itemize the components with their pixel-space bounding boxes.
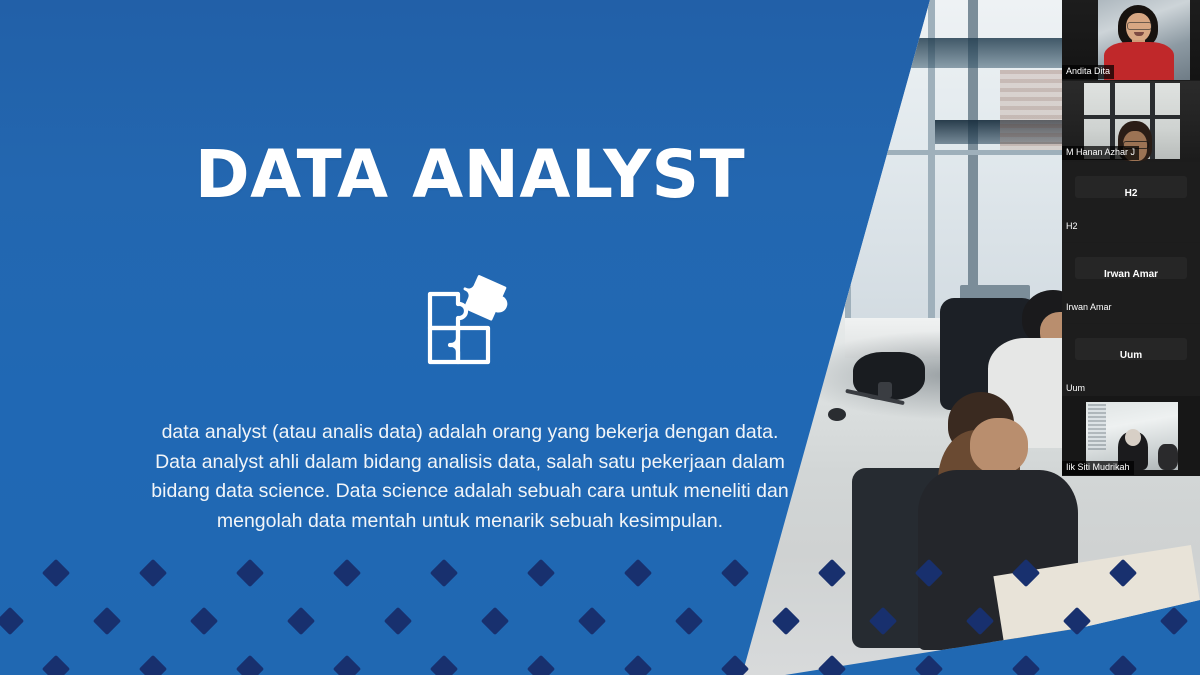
page-title: DATA ANALYST	[0, 142, 940, 208]
diamond-shape	[0, 607, 24, 635]
diamond-shape	[915, 655, 943, 675]
diamond-shape	[333, 655, 361, 675]
diamond-shape	[966, 607, 994, 635]
diamond-shape	[139, 559, 167, 587]
diamond-shape	[333, 559, 361, 587]
diamond-shape	[430, 559, 458, 587]
diamond-shape	[772, 607, 800, 635]
diamond-shape	[1012, 559, 1040, 587]
diamond-shape	[1012, 655, 1040, 675]
diamond-shape	[190, 607, 218, 635]
diamond-shape	[139, 655, 167, 675]
diamond-shape	[818, 655, 846, 675]
diamond-shape	[624, 559, 652, 587]
participant-tile-4[interactable]: Irwan Amar Irwan Amar	[1062, 243, 1200, 323]
participant-center-name-3: H2	[1062, 188, 1200, 199]
participant-tile-6[interactable]: Iik Siti Mudrikah	[1062, 396, 1200, 476]
diamond-pattern	[0, 555, 1200, 675]
diamond-shape	[818, 559, 846, 587]
participant-name-4: Irwan Amar	[1062, 301, 1116, 315]
diamond-shape	[915, 559, 943, 587]
puzzle-icon	[414, 268, 518, 368]
diamond-shape	[42, 559, 70, 587]
diamond-shape	[430, 655, 458, 675]
diamond-shape	[384, 607, 412, 635]
diamond-shape	[42, 655, 70, 675]
diamond-shape	[578, 607, 606, 635]
diamond-shape	[236, 559, 264, 587]
diamond-shape	[93, 607, 121, 635]
diamond-shape	[481, 607, 509, 635]
participant-tile-2[interactable]: M Hanan Azhar J	[1062, 81, 1200, 161]
diamond-shape	[287, 607, 315, 635]
participant-name-3: H2	[1062, 220, 1082, 234]
diamond-shape	[675, 607, 703, 635]
diamond-shape	[1109, 655, 1137, 675]
screen-share-slide: DATA ANALYST data analyst (atau analis d…	[0, 0, 1200, 675]
participant-name-5: Uum	[1062, 382, 1089, 396]
diamond-shape	[1063, 607, 1091, 635]
diamond-shape	[527, 655, 555, 675]
diamond-shape	[1160, 607, 1188, 635]
participant-video-3	[1062, 162, 1200, 242]
diamond-shape	[1109, 559, 1137, 587]
video-participant-panel[interactable]: Andita Dita M Hanan Azhar J H2 H2 Irwa	[1062, 0, 1200, 476]
participant-name-6: Iik Siti Mudrikah	[1062, 461, 1134, 475]
diamond-shape	[721, 655, 749, 675]
participant-center-name-4: Irwan Amar	[1062, 269, 1200, 280]
participant-name-1: Andita Dita	[1062, 65, 1114, 79]
participant-tile-3[interactable]: H2 H2	[1062, 162, 1200, 242]
participant-name-2: M Hanan Azhar J	[1062, 146, 1139, 160]
diamond-shape	[236, 655, 264, 675]
participant-tile-1[interactable]: Andita Dita	[1062, 0, 1200, 80]
diamond-shape	[624, 655, 652, 675]
slide-body-text: data analyst (atau analis data) adalah o…	[145, 418, 795, 537]
participant-center-name-5: Uum	[1062, 350, 1200, 361]
diamond-shape	[527, 559, 555, 587]
participant-tile-5[interactable]: Uum Uum	[1062, 324, 1200, 404]
diamond-shape	[869, 607, 897, 635]
diamond-shape	[721, 559, 749, 587]
